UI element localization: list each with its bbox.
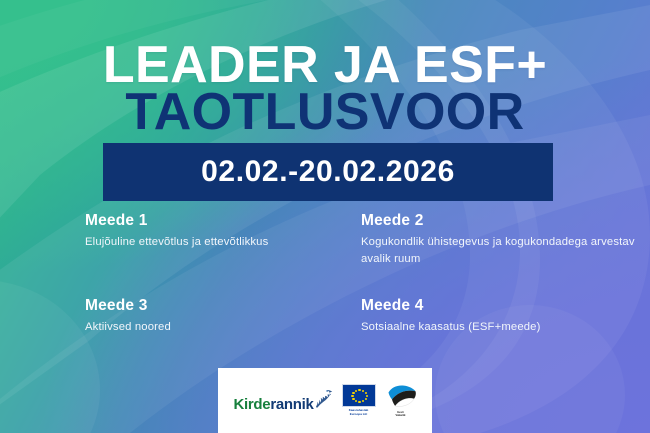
measure-item-1: Meede 1 Elujõuline ettevõtlus ja ettevõt…	[0, 212, 325, 268]
estonia-logo-caption: Eesti Vabariik	[396, 411, 406, 417]
eu-logo-caption: Kaasrahastab Euroopa Liit	[349, 409, 369, 416]
logo-bar: Kirderannik	[218, 368, 432, 433]
measure-3-description: Aktiivsed noored	[85, 319, 311, 336]
measure-item-3: Meede 3 Aktiivsed noored	[0, 297, 325, 336]
date-range-text: 02.02.-20.02.2026	[201, 157, 455, 187]
poster: LEADER JA ESF+ TAOTLUSVOOR 02.02.-20.02.…	[0, 0, 650, 433]
poster-title-line-2: TAOTLUSVOOR	[0, 88, 650, 137]
measure-1-title: Meede 1	[85, 212, 311, 229]
measure-3-title: Meede 3	[85, 297, 311, 314]
bird-icon	[316, 389, 333, 413]
estonia-flag-icon	[385, 384, 417, 410]
measures-row-top: Meede 1 Elujõuline ettevõtlus ja ettevõt…	[0, 212, 650, 268]
date-range-banner: 02.02.-20.02.2026	[103, 143, 553, 201]
kirderannik-word-part2: rannik	[270, 396, 313, 413]
measure-4-title: Meede 4	[361, 297, 636, 314]
measures-row-bottom: Meede 3 Aktiivsed noored Meede 4 Sotsiaa…	[0, 297, 650, 336]
european-union-logo: Kaasrahastab Euroopa Liit	[342, 384, 376, 416]
measures-grid: Meede 1 Elujõuline ettevõtlus ja ettevõt…	[0, 212, 650, 336]
kirderannik-word-part1: Kirde	[233, 396, 270, 413]
estonia-logo: Eesti Vabariik	[385, 384, 417, 418]
eu-caption-line-2: Euroopa Liit	[349, 413, 369, 417]
kirderannik-logo: Kirderannik	[233, 389, 332, 412]
kirderannik-wordmark: Kirderannik	[233, 397, 313, 412]
measure-item-2: Meede 2 Kogukondlik ühistegevus ja koguk…	[325, 212, 650, 268]
measure-1-description: Elujõuline ettevõtlus ja ettevõtlikkus	[85, 234, 311, 251]
estonia-caption-line-2: Vabariik	[396, 414, 406, 417]
measure-item-4: Meede 4 Sotsiaalne kaasatus (ESF+meede)	[325, 297, 650, 336]
measure-4-description: Sotsiaalne kaasatus (ESF+meede)	[361, 319, 636, 336]
measure-2-title: Meede 2	[361, 212, 636, 229]
measure-2-description: Kogukondlik ühistegevus ja kogukondadega…	[361, 234, 636, 267]
eu-flag-icon	[342, 384, 376, 407]
